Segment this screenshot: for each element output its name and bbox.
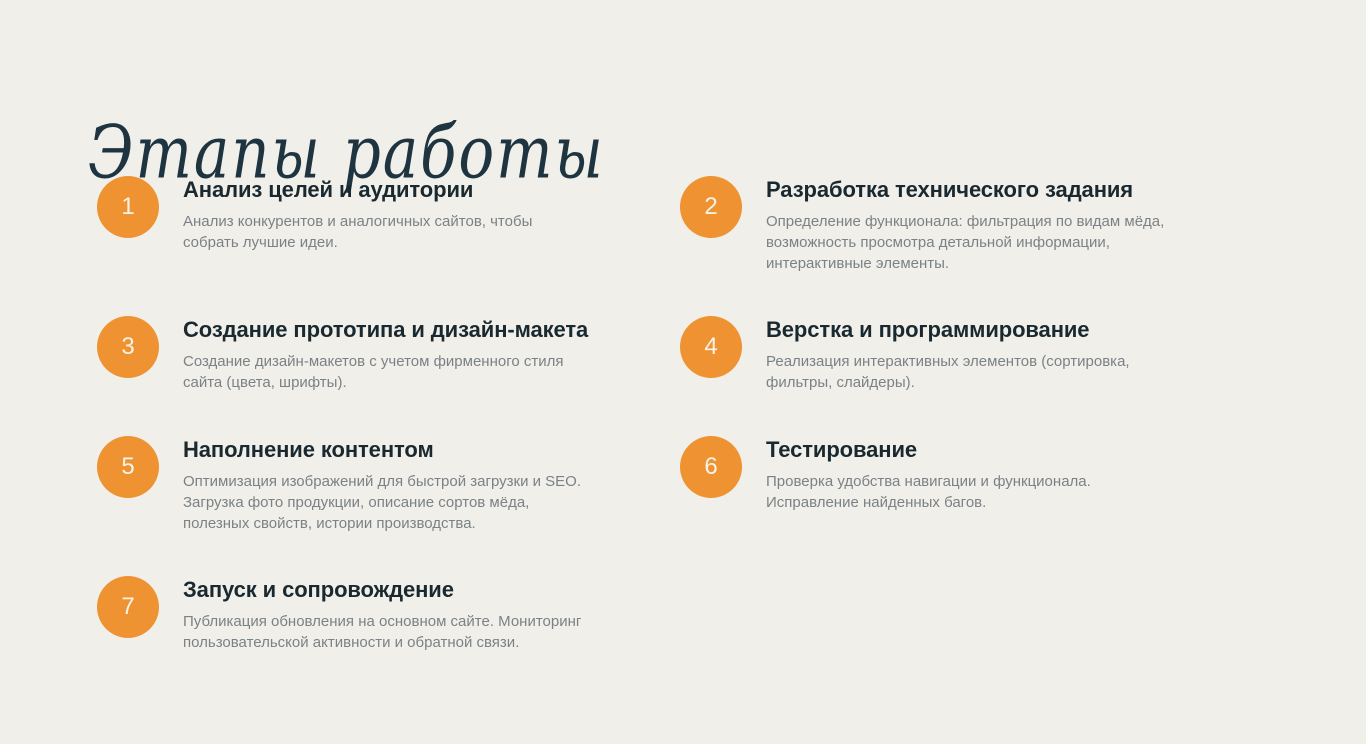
- step-title: Тестирование: [766, 436, 1091, 464]
- step-number-label: 2: [704, 195, 717, 219]
- step-number-label: 7: [121, 595, 134, 619]
- step-content: Анализ целей и аудитории Анализ конкурен…: [183, 176, 532, 253]
- step-number-label: 1: [121, 195, 134, 219]
- step-number-badge: 1: [97, 176, 159, 238]
- step-number-badge: 7: [97, 576, 159, 638]
- step-number-badge: 2: [680, 176, 742, 238]
- step-number-badge: 4: [680, 316, 742, 378]
- step-content: Верстка и программирование Реализация ин…: [766, 316, 1130, 393]
- step-item[interactable]: 3 Создание прототипа и дизайн-макета Соз…: [97, 316, 588, 393]
- step-description: Анализ конкурентов и аналогичных сайтов,…: [183, 211, 532, 253]
- step-content: Наполнение контентом Оптимизация изображ…: [183, 436, 581, 534]
- step-content: Разработка технического задания Определе…: [766, 176, 1164, 274]
- step-content: Тестирование Проверка удобства навигации…: [766, 436, 1091, 513]
- step-item[interactable]: 2 Разработка технического задания Опреде…: [680, 176, 1164, 274]
- step-item[interactable]: 5 Наполнение контентом Оптимизация изобр…: [97, 436, 581, 534]
- step-title: Создание прототипа и дизайн-макета: [183, 316, 588, 344]
- step-number-badge: 3: [97, 316, 159, 378]
- step-description: Создание дизайн-макетов с учетом фирменн…: [183, 351, 588, 393]
- step-description: Определение функционала: фильтрация по в…: [766, 211, 1164, 274]
- step-title: Анализ целей и аудитории: [183, 176, 532, 204]
- step-title: Верстка и программирование: [766, 316, 1130, 344]
- step-title: Запуск и сопровождение: [183, 576, 581, 604]
- step-description: Проверка удобства навигации и функционал…: [766, 471, 1091, 513]
- step-number-label: 4: [704, 335, 717, 359]
- step-description: Публикация обновления на основном сайте.…: [183, 611, 581, 653]
- step-number-label: 3: [121, 335, 134, 359]
- step-item[interactable]: 7 Запуск и сопровождение Публикация обно…: [97, 576, 581, 653]
- slide-root: Этапы работы 1 Анализ целей и аудитории …: [0, 0, 1366, 744]
- step-item[interactable]: 4 Верстка и программирование Реализация …: [680, 316, 1130, 393]
- step-number-label: 5: [121, 455, 134, 479]
- step-content: Запуск и сопровождение Публикация обновл…: [183, 576, 581, 653]
- step-description: Оптимизация изображений для быстрой загр…: [183, 471, 581, 534]
- step-number-label: 6: [704, 455, 717, 479]
- step-title: Наполнение контентом: [183, 436, 581, 464]
- step-content: Создание прототипа и дизайн-макета Созда…: [183, 316, 588, 393]
- step-item[interactable]: 1 Анализ целей и аудитории Анализ конкур…: [97, 176, 532, 253]
- step-title: Разработка технического задания: [766, 176, 1164, 204]
- step-number-badge: 6: [680, 436, 742, 498]
- step-number-badge: 5: [97, 436, 159, 498]
- step-description: Реализация интерактивных элементов (сорт…: [766, 351, 1130, 393]
- step-item[interactable]: 6 Тестирование Проверка удобства навигац…: [680, 436, 1091, 513]
